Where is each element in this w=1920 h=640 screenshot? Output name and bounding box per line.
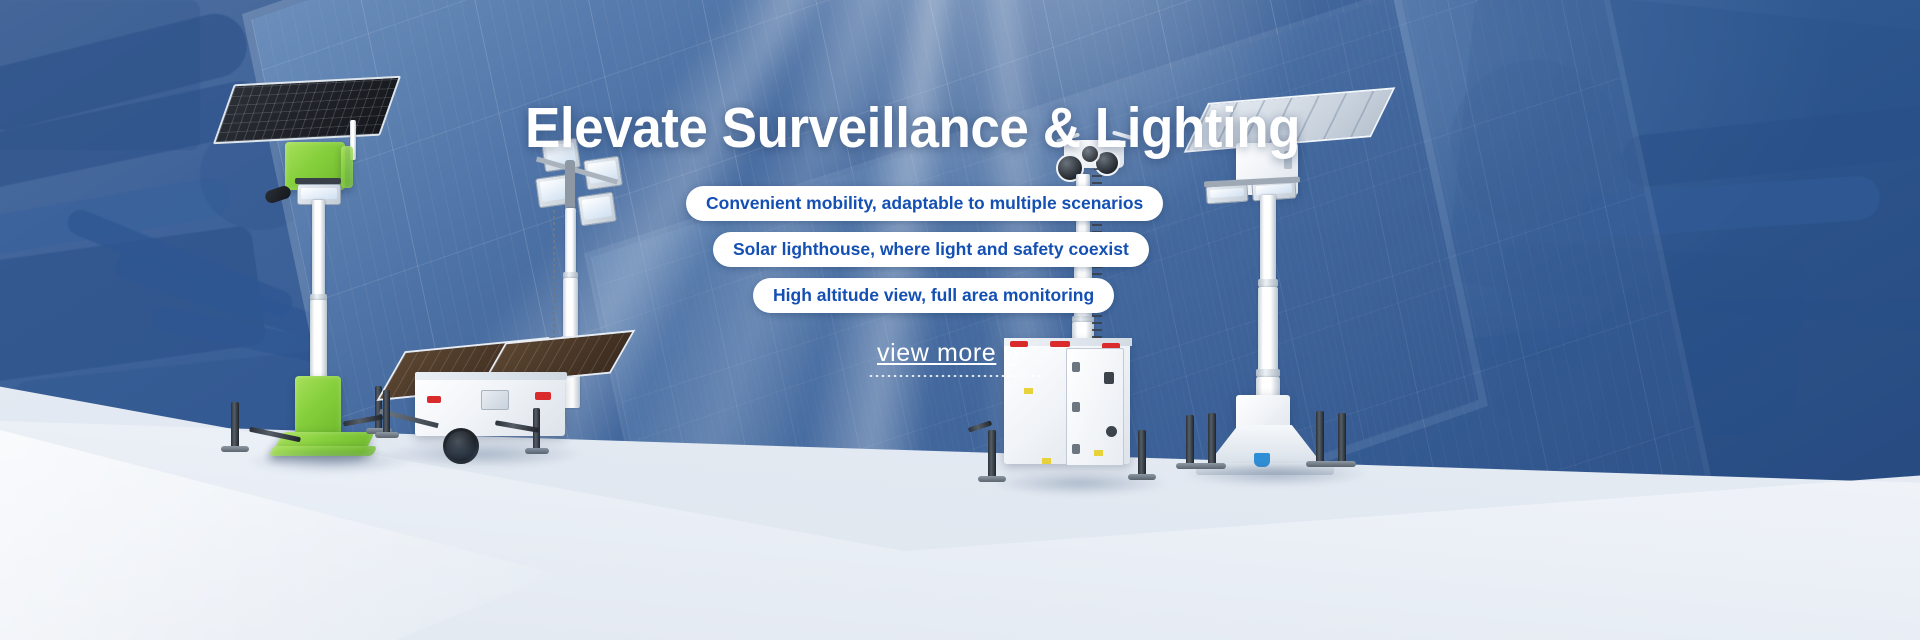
view-more-dotted-underline (868, 375, 1043, 377)
feature-pill-3: High altitude view, full area monitoring (753, 278, 1114, 313)
view-more-link[interactable]: view more ›› (877, 338, 1016, 369)
feature-pill-row: Solar lighthouse, where light and safety… (713, 232, 1149, 267)
page-title: Elevate Surveillance & Lighting (525, 95, 1300, 161)
feature-pill-row: High altitude view, full area monitoring (753, 278, 1114, 313)
banner-content: Elevate Surveillance & Lighting Convenie… (0, 0, 1920, 640)
promo-banner: Elevate Surveillance & Lighting Convenie… (0, 0, 1920, 640)
feature-pill-row: Convenient mobility, adaptable to multip… (686, 186, 1163, 221)
feature-pill-2: Solar lighthouse, where light and safety… (713, 232, 1149, 267)
view-more-label: view more (877, 339, 996, 368)
feature-pill-1: Convenient mobility, adaptable to multip… (686, 186, 1163, 221)
double-chevron-right-icon: ›› (1004, 338, 1016, 369)
